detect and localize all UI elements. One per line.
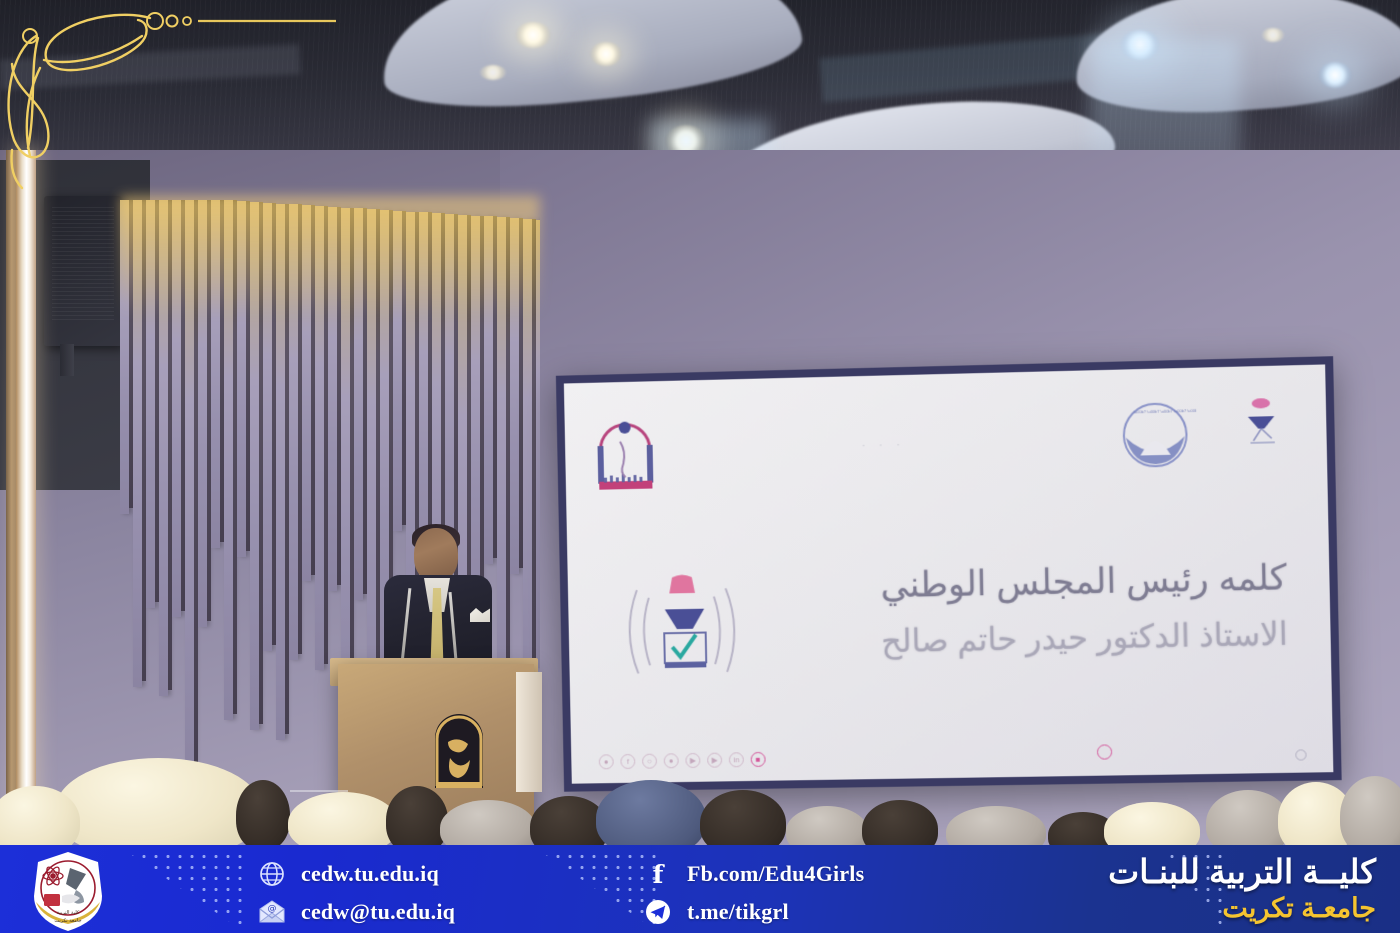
dot-pattern [540, 851, 660, 933]
telegram-icon [644, 898, 672, 926]
circular-seal-logo: \u00b7 \u00b7 \u00b7 \u00b7 \u00b7 \u00b… [1113, 398, 1197, 474]
slide-headline-line1: كلمه رئيس المجلس الوطني [725, 551, 1287, 616]
projection-screen: \u00b7 \u00b7 \u00b7 \u00b7 \u00b7 \u00b… [564, 364, 1334, 783]
svg-text:كلية التربية: كلية التربية [57, 910, 80, 916]
slide-faint-header: · · · [861, 437, 905, 452]
email-icon: @ [258, 898, 286, 926]
wall-slat [133, 200, 142, 687]
contact-telegram[interactable]: t.me/tikgrl [644, 896, 864, 928]
social-icon-linkedin: in [729, 752, 744, 767]
college-brand: كليــة التربية للبنـات جامعـة تكريت [1108, 853, 1376, 924]
wall-slat [146, 200, 155, 608]
wall-slat [211, 200, 220, 548]
college-name: كليــة التربية للبنـات [1108, 853, 1376, 892]
wall-slat [276, 204, 285, 740]
wall-slat [250, 202, 259, 730]
wall-slat [159, 200, 168, 696]
slide-social-icons: ● f ○ ● ▶ ▶ in ■ [599, 752, 766, 770]
wall-slat [172, 200, 181, 617]
footer-banner: كلية التربية جامعة تكريت cedw.tu.edu.iq [0, 845, 1400, 933]
tikrit-university-college-seal: كلية التربية جامعة تكريت [22, 850, 114, 933]
wall-slat [328, 207, 337, 591]
facebook-text: Fb.com/Edu4Girls [687, 861, 864, 887]
svg-text:f: f [653, 861, 666, 887]
social-icon-whatsapp: ● [599, 754, 614, 769]
wall-slat [185, 200, 194, 790]
speaker-head [414, 528, 458, 582]
contact-column-right: f Fb.com/Edu4Girls t.me/tikgrl [644, 858, 864, 928]
wall-slat [237, 201, 246, 557]
social-icon-youtube: ▶ [707, 753, 722, 768]
wall-light-column [16, 150, 36, 830]
university-name: جامعـة تكريت [1108, 892, 1376, 924]
contact-facebook[interactable]: f Fb.com/Edu4Girls [644, 858, 864, 890]
facebook-icon: f [644, 860, 672, 888]
wall-speaker [44, 196, 122, 346]
ceiling-spotlight [515, 22, 551, 48]
audience-head [236, 780, 290, 845]
contact-email[interactable]: @ cedw@tu.edu.iq [258, 896, 455, 928]
event-photo: (function(){ var host=document.currentSc… [0, 0, 1400, 845]
telegram-text: t.me/tikgrl [687, 899, 789, 925]
wall-slat [510, 218, 519, 574]
ceiling-spotlight [590, 42, 622, 66]
wall-slat [224, 200, 233, 720]
social-icon-facebook: f [620, 754, 635, 769]
ceiling-spotlight [1318, 62, 1352, 88]
wall-slat [536, 220, 540, 668]
svg-text:جامعة تكريت: جامعة تكريت [54, 918, 81, 924]
wall-slat [315, 206, 324, 670]
wall-speaker-mount [60, 344, 74, 376]
wall-slat [302, 205, 311, 581]
slide-corner-mark [1097, 744, 1112, 759]
email-text: cedw@tu.edu.iq [301, 899, 455, 925]
wall-slat [484, 216, 493, 564]
social-icon-website: ■ [751, 752, 766, 767]
slide-headline-line2: الاستاذ الدكتور حيدر حاتم صالح [726, 610, 1288, 670]
contact-website[interactable]: cedw.tu.edu.iq [258, 858, 455, 890]
gold-arch-calligraphy-emblem [430, 708, 488, 792]
ceiling-spotlight [480, 65, 506, 80]
svg-text:\u00b7 \u00b7 \u00b7 \u00b7 \u: \u00b7 \u00b7 \u00b7 \u00b7 \u00b7 \u00b… [1133, 407, 1197, 415]
social-icon-instagram: ○ [642, 754, 657, 769]
globe-icon [258, 860, 286, 888]
audience-glasses [290, 790, 348, 802]
wall-slat [198, 200, 207, 627]
ceiling-spotlight [1120, 30, 1160, 60]
wall-slat [263, 203, 272, 651]
gold-flourish-corner [0, 0, 360, 200]
wall-slat [393, 211, 402, 531]
svg-text:@: @ [268, 904, 277, 914]
projection-screen-frame: \u00b7 \u00b7 \u00b7 \u00b7 \u00b7 \u00b… [556, 356, 1342, 792]
social-icon-telegram: ▶ [685, 753, 700, 768]
arch-monument-logo [594, 419, 656, 492]
website-text: cedw.tu.edu.iq [301, 861, 439, 887]
audience-head [386, 786, 448, 845]
ceiling-spotlight [1262, 28, 1284, 42]
dot-pattern [126, 851, 246, 933]
wall-slat [289, 204, 298, 660]
wall-slat [120, 200, 129, 514]
slide-headline: كلمه رئيس المجلس الوطني الاستاذ الدكتور … [725, 551, 1288, 670]
slide-corner-mark-small [1295, 749, 1306, 760]
contact-column-left: cedw.tu.edu.iq @ cedw@tu.edu.iq [258, 858, 455, 928]
podium-side-panel [516, 672, 542, 792]
social-icon-twitter: ● [664, 753, 679, 768]
small-emblem-logo [1240, 396, 1282, 453]
wall-slat [354, 208, 363, 600]
